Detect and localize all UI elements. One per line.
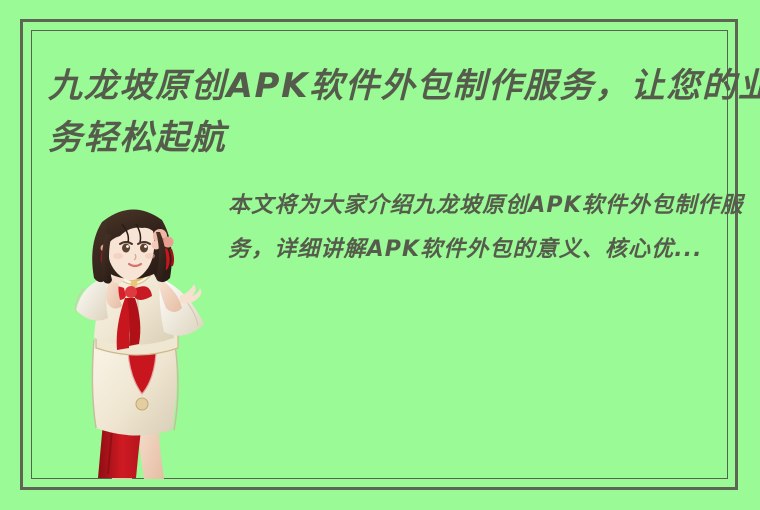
character-illustration: [32, 200, 232, 479]
left-sleeve: [76, 276, 108, 321]
page-title: 九龙坡原创APK软件外包制作服务，让您的业务轻松起航: [48, 60, 760, 164]
article-card: 九龙坡原创APK软件外包制作服务，让您的业务轻松起航 本文将为大家介绍九龙坡原创…: [0, 0, 760, 510]
article-excerpt: 本文将为大家介绍九龙坡原创APK软件外包制作服务，详细讲解APK软件外包的意义、…: [228, 184, 748, 272]
